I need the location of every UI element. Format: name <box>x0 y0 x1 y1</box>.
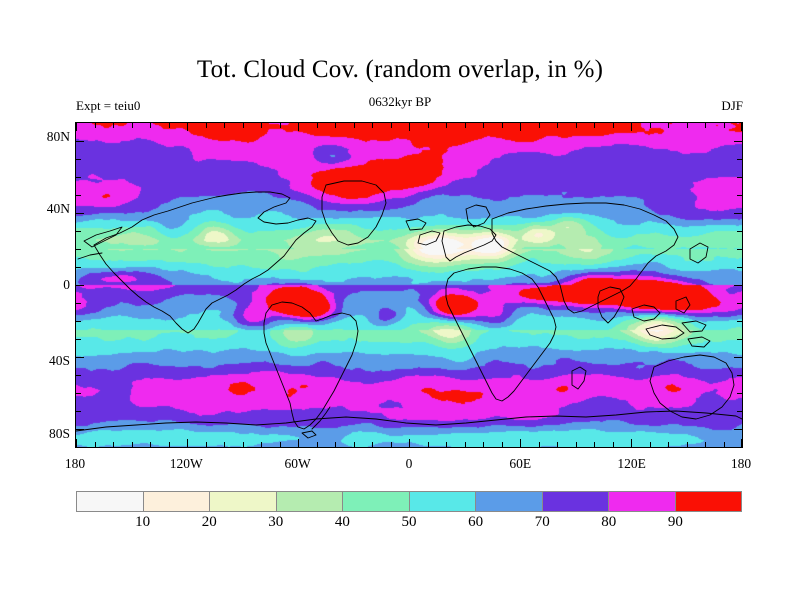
colorbar-band-4 <box>343 492 410 511</box>
axis-tick <box>428 442 429 447</box>
axis-tick <box>446 123 447 128</box>
axis-tick <box>206 123 207 128</box>
axis-tick <box>734 429 742 430</box>
colorbar-band-6 <box>476 492 543 511</box>
axis-tick <box>539 123 540 128</box>
axis-tick <box>76 285 84 286</box>
axis-tick <box>737 177 742 178</box>
axis-tick <box>650 442 651 447</box>
axis-tick <box>557 442 558 447</box>
axis-tick <box>687 123 688 128</box>
axis-tick <box>613 442 614 447</box>
axis-tick <box>737 375 742 376</box>
axis-tick <box>76 393 81 394</box>
axis-tick <box>335 442 336 447</box>
axis-tick <box>631 439 632 447</box>
axis-tick <box>132 123 133 128</box>
colorbar-tick-labels: 102030405060708090 <box>76 514 742 534</box>
colorbar-band-5 <box>410 492 477 511</box>
x-tick-120e: 120E <box>617 456 646 472</box>
axis-tick <box>446 442 447 447</box>
axis-tick <box>409 123 410 131</box>
axis-tick <box>76 439 77 447</box>
colorbar-label-10: 10 <box>135 514 150 531</box>
axis-tick <box>409 439 410 447</box>
colorbar-label-80: 80 <box>601 514 616 531</box>
axis-tick <box>737 195 742 196</box>
axis-tick <box>354 123 355 128</box>
axis-tick <box>520 123 521 131</box>
x-tick-60e: 60E <box>509 456 531 472</box>
colorbar-label-70: 70 <box>535 514 550 531</box>
colorbar-label-90: 90 <box>668 514 683 531</box>
axis-tick <box>76 375 81 376</box>
y-tick-80s: 80S <box>26 426 70 442</box>
axis-tick <box>95 442 96 447</box>
axis-tick <box>224 123 225 128</box>
axis-tick <box>298 439 299 447</box>
colorbar-band-3 <box>277 492 344 511</box>
axis-tick <box>76 123 77 131</box>
axis-tick <box>465 442 466 447</box>
axis-tick <box>594 123 595 128</box>
axis-tick <box>280 442 281 447</box>
x-tick-0: 0 <box>406 456 413 472</box>
axis-tick <box>76 339 81 340</box>
colorbar-band-7 <box>543 492 610 511</box>
axis-tick <box>76 357 84 358</box>
axis-tick <box>113 442 114 447</box>
axis-tick <box>650 123 651 128</box>
colorbar-band-0 <box>77 492 144 511</box>
axis-tick <box>539 442 540 447</box>
axis-tick <box>502 123 503 128</box>
axis-tick <box>76 141 84 142</box>
climate-map-figure: Tot. Cloud Cov. (random overlap, in %) E… <box>0 0 800 600</box>
axis-tick <box>187 439 188 447</box>
axis-tick <box>150 123 151 128</box>
axis-tick <box>372 442 373 447</box>
axis-tick <box>483 442 484 447</box>
axis-tick <box>737 159 742 160</box>
axis-tick <box>76 177 81 178</box>
axis-tick <box>243 442 244 447</box>
axis-tick <box>741 439 742 447</box>
axis-tick <box>76 267 81 268</box>
axis-tick <box>734 141 742 142</box>
axis-tick <box>187 123 188 131</box>
axis-tick <box>737 321 742 322</box>
axis-tick <box>741 123 742 131</box>
axis-tick <box>737 303 742 304</box>
x-tick-180e: 180 <box>731 456 751 472</box>
axis-tick <box>737 339 742 340</box>
colorbar-label-20: 20 <box>202 514 217 531</box>
axis-tick <box>737 249 742 250</box>
axis-tick <box>668 123 669 128</box>
axis-tick <box>298 123 299 131</box>
axis-tick <box>132 442 133 447</box>
axis-tick <box>169 123 170 128</box>
axis-tick <box>113 123 114 128</box>
y-tick-40s: 40S <box>26 353 70 369</box>
y-tick-80n: 80N <box>26 129 70 145</box>
axis-tick <box>169 442 170 447</box>
axis-tick <box>150 442 151 447</box>
axis-tick <box>724 442 725 447</box>
axis-tick <box>705 442 706 447</box>
axis-tick <box>354 442 355 447</box>
axis-tick <box>76 213 84 214</box>
y-tick-0: 0 <box>26 277 70 293</box>
map-plot-area <box>75 122 743 448</box>
axis-tick <box>261 442 262 447</box>
axis-tick <box>224 442 225 447</box>
axis-tick <box>737 411 742 412</box>
colorbar-label-30: 30 <box>268 514 283 531</box>
axis-tick <box>76 321 81 322</box>
axis-tick <box>428 123 429 128</box>
axis-tick <box>594 442 595 447</box>
axis-tick <box>335 123 336 128</box>
axis-tick <box>734 285 742 286</box>
axis-tick <box>243 123 244 128</box>
axis-tick <box>734 357 742 358</box>
x-tick-120w: 120W <box>170 456 203 472</box>
axis-tick <box>95 123 96 128</box>
axis-tick <box>76 429 84 430</box>
axis-tick <box>317 442 318 447</box>
axis-tick <box>631 123 632 131</box>
axis-tick <box>372 123 373 128</box>
axis-tick <box>734 213 742 214</box>
colorbar <box>76 491 742 512</box>
y-tick-40n: 40N <box>26 201 70 217</box>
period-label: 0632kyr BP <box>0 94 800 110</box>
colorbar-band-8 <box>609 492 676 511</box>
axis-tick <box>737 393 742 394</box>
axis-tick <box>668 442 669 447</box>
axis-tick <box>502 442 503 447</box>
y-axis: 80N 40N 0 40S 80S <box>22 122 70 448</box>
axis-tick <box>76 195 81 196</box>
axis-tick <box>280 123 281 128</box>
axis-tick <box>705 123 706 128</box>
colorbar-label-40: 40 <box>335 514 350 531</box>
axis-tick <box>687 442 688 447</box>
axis-tick <box>391 123 392 128</box>
axis-tick <box>391 442 392 447</box>
season-label: DJF <box>721 98 743 114</box>
axis-tick <box>557 123 558 128</box>
axis-tick <box>76 303 81 304</box>
axis-tick <box>76 231 81 232</box>
colorbar-band-1 <box>144 492 211 511</box>
colorbar-band-2 <box>210 492 277 511</box>
axis-tick <box>613 123 614 128</box>
axis-tick <box>206 442 207 447</box>
axis-tick <box>76 249 81 250</box>
x-tick-60w: 60W <box>284 456 310 472</box>
x-tick-180w: 180 <box>65 456 85 472</box>
axis-tick <box>576 442 577 447</box>
colorbar-label-50: 50 <box>402 514 417 531</box>
axis-tick <box>576 123 577 128</box>
colorbar-band-9 <box>676 492 742 511</box>
axis-tick <box>483 123 484 128</box>
axis-tick <box>317 123 318 128</box>
axis-tick <box>737 267 742 268</box>
colorbar-bands <box>76 491 742 512</box>
page-title: Tot. Cloud Cov. (random overlap, in %) <box>0 56 800 84</box>
axis-tick <box>520 439 521 447</box>
axis-tick <box>76 411 81 412</box>
axis-tick <box>76 159 81 160</box>
colorbar-label-60: 60 <box>468 514 483 531</box>
axis-tick <box>737 231 742 232</box>
axis-tick <box>724 123 725 128</box>
x-axis: 180 120W 60W 0 60E 120E 180 <box>75 456 743 476</box>
axis-tick <box>261 123 262 128</box>
axis-tick <box>465 123 466 128</box>
coastlines <box>76 123 742 447</box>
